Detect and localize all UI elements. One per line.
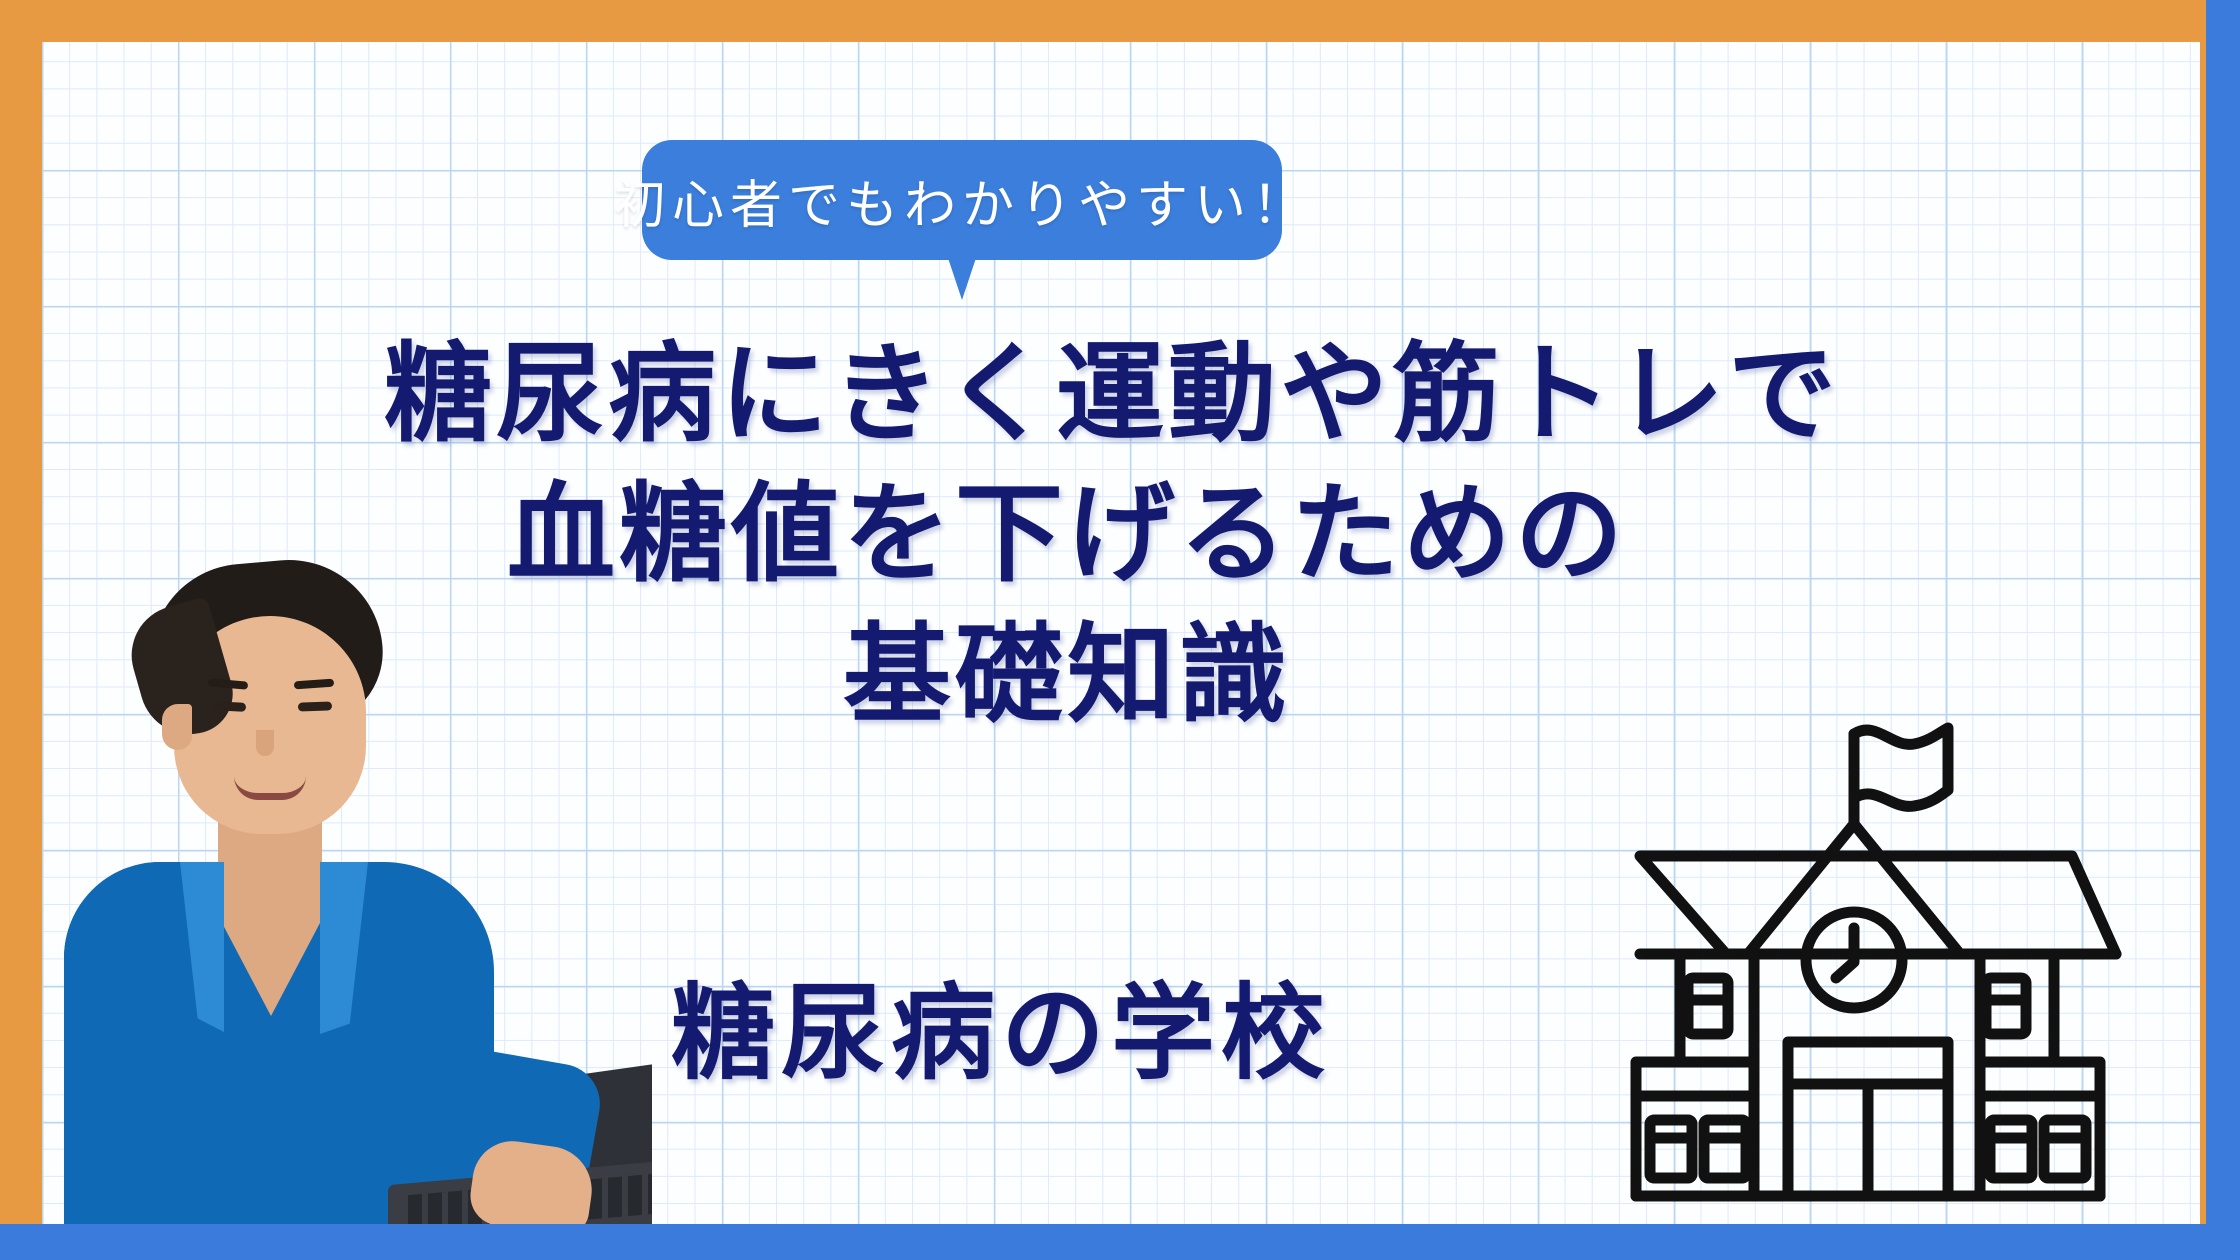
lower-window-r1-icon	[1990, 1120, 2032, 1178]
intro-badge-label: 初心者でもわかりやすい！	[614, 163, 1310, 238]
right-accent-bar	[2206, 0, 2240, 1260]
school-building-svg	[1618, 706, 2138, 1206]
thumbnail-canvas: 初心者でもわかりやすい！ 糖尿病にきく運動や筋トレで 血糖値を下げるための 基礎…	[0, 0, 2240, 1260]
upper-window-left-icon	[1688, 978, 1728, 1034]
bottom-accent-bar	[0, 1224, 2240, 1260]
lower-window-r2-icon	[2044, 1120, 2086, 1178]
flag-icon	[1854, 728, 1948, 806]
nose	[256, 730, 274, 756]
ear	[162, 704, 192, 750]
doctor-at-laptop-photo	[42, 544, 652, 1224]
intro-badge: 初心者でもわかりやすい！	[642, 140, 1282, 260]
roof-icon	[1640, 856, 2116, 954]
eye-left	[212, 701, 246, 712]
lower-window-l2-icon	[1704, 1120, 1746, 1178]
headline-line-1: 糖尿病にきく運動や筋トレで	[42, 324, 2200, 464]
speech-bubble-tail-icon	[948, 258, 976, 300]
eye-right	[298, 701, 332, 711]
lower-window-l1-icon	[1650, 1120, 1692, 1178]
badge-container: 初心者でもわかりやすい！	[642, 140, 1282, 260]
marker-underline-3	[854, 930, 1464, 958]
upper-window-right-icon	[1986, 978, 2026, 1034]
school-building-icon	[1618, 706, 2138, 1206]
graph-paper-background: 初心者でもわかりやすい！ 糖尿病にきく運動や筋トレで 血糖値を下げるための 基礎…	[42, 42, 2200, 1224]
